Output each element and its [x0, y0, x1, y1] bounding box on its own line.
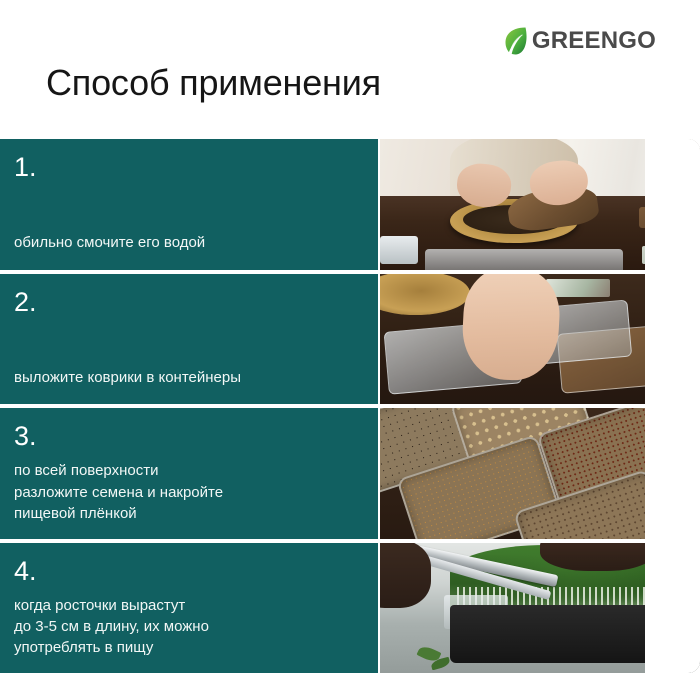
step-panel-4: 4. когда росточки вырастут до 3-5 см в д… — [0, 543, 378, 674]
leaf-icon — [502, 26, 528, 56]
page-title: Способ применения — [46, 62, 381, 104]
brand-logo[interactable]: GREENGO — [502, 26, 656, 56]
steps-list: 1. обильно смочите его водой 2. выложите… — [0, 139, 700, 673]
brand-name: GREENGO — [532, 29, 656, 53]
step-row: 1. обильно смочите его водой — [0, 139, 700, 270]
step-panel-2: 2. выложите коврики в контейнеры — [0, 274, 378, 405]
photo-right-margin — [645, 543, 700, 674]
step-photo-2 — [380, 274, 700, 405]
step-text: когда росточки вырастут до 3-5 см в длин… — [14, 595, 360, 659]
step-text: обильно смочите его водой — [14, 232, 360, 253]
step-row: 4. когда росточки вырастут до 3-5 см в д… — [0, 543, 700, 674]
step-row: 3. по всей поверхности разложите семена … — [0, 408, 700, 539]
step-number: 1. — [14, 153, 360, 181]
step-photo-1 — [380, 139, 700, 270]
step-number: 3. — [14, 422, 360, 450]
photo-right-margin — [645, 274, 700, 405]
photo-right-margin — [645, 408, 700, 539]
step-number: 4. — [14, 557, 360, 585]
step-text: выложите коврики в контейнеры — [14, 367, 360, 388]
step-text: по всей поверхности разложите семена и н… — [14, 460, 360, 524]
step-panel-1: 1. обильно смочите его водой — [0, 139, 378, 270]
step-number: 2. — [14, 288, 360, 316]
infographic-page: GREENGO Способ применения 1. обильно смо… — [0, 0, 700, 700]
page-header: GREENGO Способ применения — [0, 0, 700, 132]
step-row: 2. выложите коврики в контейнеры — [0, 274, 700, 405]
step-panel-3: 3. по всей поверхности разложите семена … — [0, 408, 378, 539]
step-photo-4 — [380, 543, 700, 674]
photo-right-margin — [645, 139, 700, 270]
step-photo-3 — [380, 408, 700, 539]
